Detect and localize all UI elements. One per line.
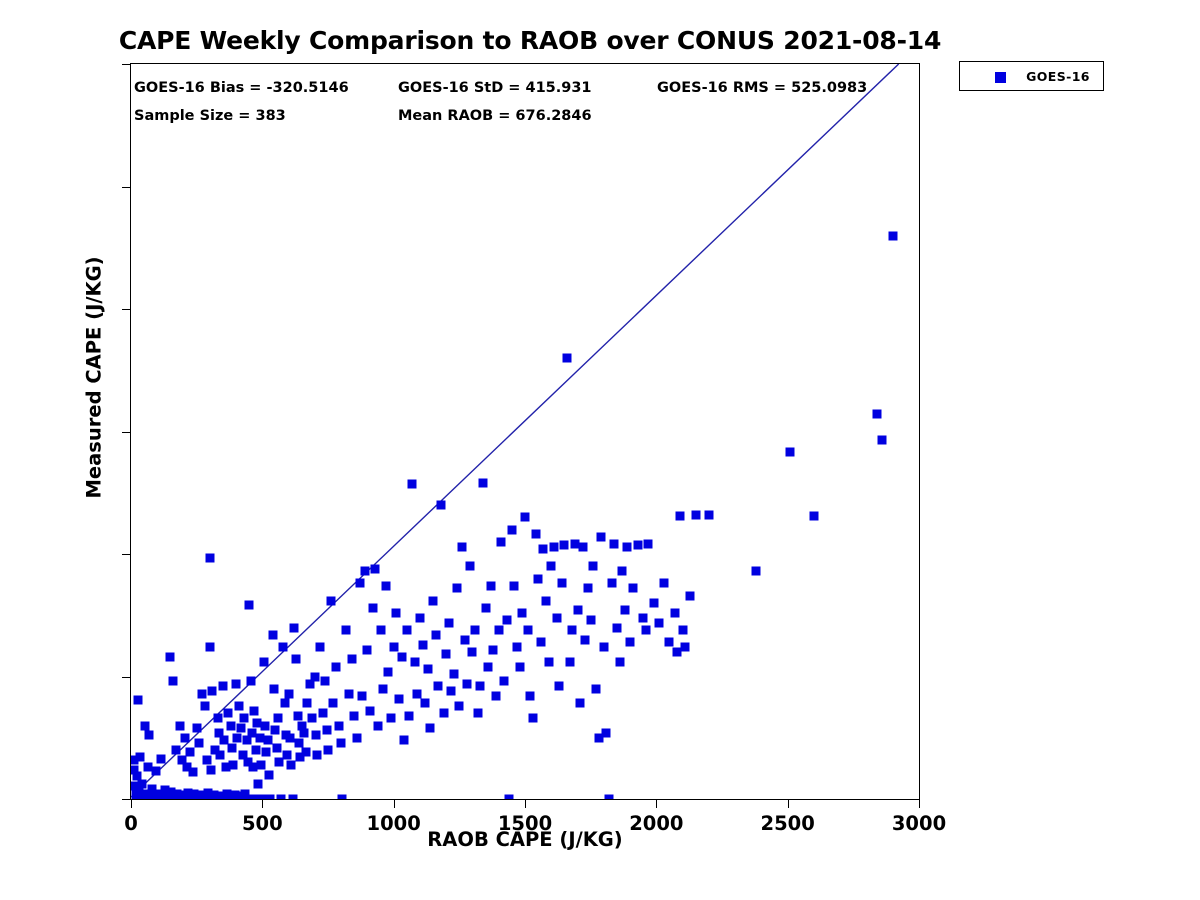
one-to-one-reference-line xyxy=(131,64,919,799)
scatter-point xyxy=(513,643,522,652)
scatter-point xyxy=(195,738,204,747)
scatter-point xyxy=(447,687,456,696)
scatter-point xyxy=(381,581,390,590)
y-axis-tick xyxy=(122,554,131,555)
scatter-point xyxy=(423,665,432,674)
scatter-point xyxy=(450,670,459,679)
scatter-point xyxy=(660,579,669,588)
scatter-point xyxy=(581,635,590,644)
scatter-point xyxy=(431,630,440,639)
scatter-point xyxy=(505,795,514,800)
scatter-point xyxy=(352,733,361,742)
page-title: CAPE Weekly Comparison to RAOB over CONU… xyxy=(0,26,1060,55)
scatter-point xyxy=(670,608,679,617)
scatter-point xyxy=(157,754,166,763)
x-axis-tick xyxy=(656,799,657,808)
scatter-point xyxy=(626,638,635,647)
scatter-point xyxy=(316,643,325,652)
scatter-point xyxy=(578,542,587,551)
scatter-point xyxy=(452,584,461,593)
scatter-point xyxy=(300,728,309,737)
scatter-point xyxy=(379,684,388,693)
scatter-point xyxy=(547,562,556,571)
scatter-point xyxy=(389,643,398,652)
scatter-point xyxy=(620,606,629,615)
scatter-point xyxy=(436,501,445,510)
scatter-point xyxy=(371,564,380,573)
scatter-point xyxy=(478,478,487,487)
scatter-point xyxy=(250,706,259,715)
scatter-point xyxy=(266,795,275,800)
scatter-point xyxy=(283,750,292,759)
scatter-point xyxy=(492,692,501,701)
scatter-point xyxy=(228,743,237,752)
scatter-point xyxy=(239,714,248,723)
scatter-point xyxy=(888,231,897,240)
scatter-point xyxy=(251,746,260,755)
x-axis-tick xyxy=(262,799,263,808)
scatter-point xyxy=(363,645,372,654)
scatter-point xyxy=(468,648,477,657)
scatter-point xyxy=(197,689,206,698)
scatter-point xyxy=(279,643,288,652)
scatter-point xyxy=(373,721,382,730)
scatter-point xyxy=(628,584,637,593)
scatter-point xyxy=(274,714,283,723)
x-axis-tick xyxy=(788,799,789,808)
scatter-point xyxy=(392,608,401,617)
scatter-point xyxy=(510,581,519,590)
scatter-point xyxy=(276,795,285,800)
scatter-point xyxy=(345,689,354,698)
scatter-point xyxy=(289,623,298,632)
scatter-point xyxy=(326,596,335,605)
scatter-point xyxy=(489,645,498,654)
scatter-point xyxy=(246,677,255,686)
scatter-point xyxy=(151,766,160,775)
scatter-point xyxy=(200,701,209,710)
scatter-point xyxy=(644,540,653,549)
legend-marker-goes-16 xyxy=(995,72,1006,83)
scatter-point xyxy=(678,625,687,634)
scatter-point xyxy=(268,630,277,639)
scatter-point xyxy=(534,574,543,583)
scatter-point xyxy=(597,532,606,541)
scatter-point xyxy=(285,733,294,742)
scatter-point xyxy=(471,625,480,634)
x-axis-tick xyxy=(525,799,526,808)
scatter-point xyxy=(329,699,338,708)
scatter-point xyxy=(254,780,263,789)
scatter-point xyxy=(518,608,527,617)
scatter-point xyxy=(169,677,178,686)
scatter-point xyxy=(686,591,695,600)
scatter-point xyxy=(308,714,317,723)
scatter-point xyxy=(429,596,438,605)
scatter-point xyxy=(134,695,143,704)
y-axis-tick xyxy=(122,799,131,800)
scatter-point xyxy=(218,682,227,691)
scatter-point xyxy=(618,567,627,576)
scatter-point xyxy=(350,711,359,720)
scatter-point xyxy=(313,750,322,759)
scatter-point xyxy=(224,709,233,718)
y-axis-tick xyxy=(122,64,131,65)
x-axis-tick xyxy=(394,799,395,808)
x-axis-label: RAOB CAPE (J/KG) xyxy=(130,828,920,851)
scatter-point xyxy=(376,625,385,634)
scatter-point xyxy=(615,657,624,666)
scatter-point xyxy=(287,760,296,769)
scatter-point xyxy=(387,714,396,723)
scatter-point xyxy=(633,541,642,550)
scatter-point xyxy=(878,436,887,445)
scatter-point xyxy=(334,721,343,730)
scatter-point xyxy=(324,746,333,755)
scatter-point xyxy=(531,530,540,539)
y-axis-tick xyxy=(122,677,131,678)
scatter-point xyxy=(704,510,713,519)
scatter-point xyxy=(691,510,700,519)
scatter-point xyxy=(591,684,600,693)
scatter-point xyxy=(413,689,422,698)
y-axis-tick xyxy=(122,432,131,433)
scatter-point xyxy=(557,579,566,588)
scatter-point xyxy=(641,625,650,634)
scatter-point xyxy=(576,699,585,708)
scatter-point xyxy=(542,596,551,605)
scatter-point xyxy=(186,748,195,757)
scatter-point xyxy=(171,746,180,755)
scatter-point xyxy=(136,753,145,762)
scatter-point xyxy=(205,553,214,562)
scatter-point xyxy=(263,736,272,745)
scatter-point xyxy=(460,635,469,644)
x-axis-tick xyxy=(919,799,920,808)
scatter-point xyxy=(260,721,269,730)
scatter-point xyxy=(654,618,663,627)
scatter-point xyxy=(358,692,367,701)
scatter-point xyxy=(166,652,175,661)
scatter-point xyxy=(410,657,419,666)
scatter-point xyxy=(415,613,424,622)
scatter-point xyxy=(226,721,235,730)
scatter-point xyxy=(322,726,331,735)
scatter-point xyxy=(599,643,608,652)
scatter-point xyxy=(302,699,311,708)
scatter-point xyxy=(216,750,225,759)
scatter-point xyxy=(552,613,561,622)
legend: GOES-16 xyxy=(959,61,1104,91)
scatter-point xyxy=(293,711,302,720)
scatter-point xyxy=(526,692,535,701)
scatter-point xyxy=(318,709,327,718)
legend-label-goes-16: GOES-16 xyxy=(1022,69,1094,84)
scatter-point xyxy=(229,760,238,769)
scatter-point xyxy=(457,542,466,551)
scatter-point xyxy=(481,603,490,612)
scatter-point xyxy=(295,738,304,747)
scatter-point xyxy=(809,512,818,521)
scatter-point xyxy=(544,657,553,666)
scatter-point xyxy=(612,623,621,632)
scatter-point xyxy=(473,709,482,718)
scatter-point xyxy=(426,723,435,732)
scatter-point xyxy=(188,768,197,777)
scatter-point xyxy=(145,731,154,740)
scatter-point xyxy=(310,672,319,681)
scatter-point xyxy=(262,748,271,757)
scatter-point xyxy=(360,567,369,576)
scatter-point xyxy=(207,765,216,774)
scatter-point xyxy=(347,655,356,664)
scatter-point xyxy=(565,657,574,666)
scatter-point xyxy=(439,709,448,718)
scatter-point xyxy=(573,606,582,615)
x-axis-tick xyxy=(131,799,132,808)
scatter-point xyxy=(568,625,577,634)
scatter-point xyxy=(138,780,147,789)
scatter-point xyxy=(602,728,611,737)
scatter-point xyxy=(203,755,212,764)
scatter-plot-figure: CAPE Weekly Comparison to RAOB over CONU… xyxy=(0,0,1200,900)
scatter-point xyxy=(272,743,281,752)
scatter-point xyxy=(284,689,293,698)
scatter-point xyxy=(434,682,443,691)
scatter-point xyxy=(288,795,297,800)
scatter-point xyxy=(259,657,268,666)
scatter-point xyxy=(384,667,393,676)
scatter-point xyxy=(237,723,246,732)
scatter-point xyxy=(560,541,569,550)
scatter-point xyxy=(140,721,149,730)
scatter-point xyxy=(397,652,406,661)
data-layer xyxy=(131,64,919,799)
scatter-point xyxy=(486,581,495,590)
scatter-point xyxy=(402,625,411,634)
scatter-point xyxy=(233,733,242,742)
scatter-point xyxy=(507,525,516,534)
y-axis-tick xyxy=(122,187,131,188)
scatter-point xyxy=(607,579,616,588)
scatter-point xyxy=(337,738,346,747)
scatter-point xyxy=(394,694,403,703)
scatter-point xyxy=(563,354,572,363)
scatter-point xyxy=(521,513,530,522)
scatter-point xyxy=(605,795,614,800)
scatter-point xyxy=(208,687,217,696)
scatter-point xyxy=(355,579,364,588)
scatter-point xyxy=(649,599,658,608)
scatter-point xyxy=(549,542,558,551)
scatter-point xyxy=(497,537,506,546)
scatter-point xyxy=(444,618,453,627)
scatter-point xyxy=(232,679,241,688)
scatter-point xyxy=(523,625,532,634)
scatter-point xyxy=(312,731,321,740)
scatter-point xyxy=(639,613,648,622)
scatter-point xyxy=(175,721,184,730)
scatter-point xyxy=(421,699,430,708)
scatter-point xyxy=(463,679,472,688)
scatter-point xyxy=(292,655,301,664)
scatter-point xyxy=(368,603,377,612)
scatter-point xyxy=(192,723,201,732)
scatter-point xyxy=(213,714,222,723)
scatter-point xyxy=(366,706,375,715)
scatter-point xyxy=(502,616,511,625)
scatter-point xyxy=(476,682,485,691)
scatter-point xyxy=(264,770,273,779)
scatter-point xyxy=(301,748,310,757)
scatter-point xyxy=(234,701,243,710)
scatter-point xyxy=(180,733,189,742)
scatter-point xyxy=(752,567,761,576)
scatter-point xyxy=(206,643,215,652)
scatter-point xyxy=(270,684,279,693)
scatter-point xyxy=(681,643,690,652)
scatter-point xyxy=(539,545,548,554)
scatter-point xyxy=(786,448,795,457)
scatter-point xyxy=(455,701,464,710)
scatter-point xyxy=(675,512,684,521)
scatter-point xyxy=(584,584,593,593)
scatter-point xyxy=(586,616,595,625)
scatter-point xyxy=(528,714,537,723)
scatter-point xyxy=(342,625,351,634)
scatter-point xyxy=(465,562,474,571)
scatter-point xyxy=(245,601,254,610)
scatter-point xyxy=(400,736,409,745)
scatter-point xyxy=(536,638,545,647)
y-axis-label: Measured CAPE (J/KG) xyxy=(83,8,106,748)
scatter-point xyxy=(665,638,674,647)
scatter-point xyxy=(555,682,564,691)
scatter-point xyxy=(271,726,280,735)
plot-area: 0500100015002000250030000500100015002000… xyxy=(130,63,920,800)
scatter-point xyxy=(257,760,266,769)
scatter-point xyxy=(321,677,330,686)
scatter-point xyxy=(405,711,414,720)
scatter-point xyxy=(515,662,524,671)
scatter-point xyxy=(872,410,881,419)
scatter-point xyxy=(331,662,340,671)
scatter-point xyxy=(499,677,508,686)
scatter-point xyxy=(494,625,503,634)
scatter-point xyxy=(442,650,451,659)
scatter-point xyxy=(408,480,417,489)
scatter-point xyxy=(610,540,619,549)
y-axis-tick xyxy=(122,309,131,310)
scatter-point xyxy=(484,662,493,671)
scatter-point xyxy=(589,562,598,571)
scatter-point xyxy=(280,699,289,708)
scatter-point xyxy=(338,795,347,800)
scatter-point xyxy=(418,640,427,649)
scatter-point xyxy=(623,542,632,551)
